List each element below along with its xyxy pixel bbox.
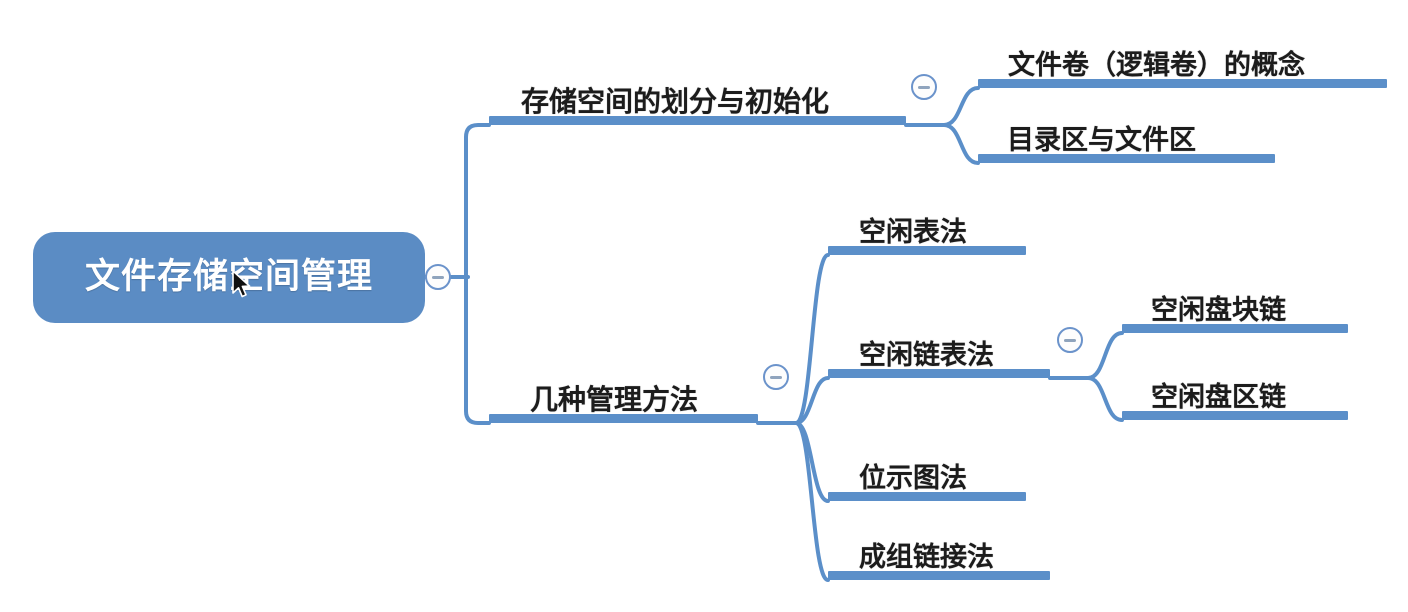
node-free-linked-list-method-bar	[828, 369, 1050, 378]
node-free-extent-chain[interactable]: 空闲盘区链	[1122, 369, 1348, 420]
node-file-volume-concept[interactable]: 文件卷（逻辑卷）的概念	[978, 37, 1387, 88]
root-collapse-toggle[interactable]	[425, 264, 451, 290]
node-management-methods-label: 几种管理方法	[530, 386, 698, 414]
node-free-block-chain-label: 空闲盘块链	[1151, 297, 1286, 324]
node-free-extent-chain-bar	[1122, 411, 1348, 420]
root-node[interactable]: 文件存储空间管理	[33, 232, 425, 323]
node-grouped-link-method-bar	[828, 571, 1050, 580]
node-management-methods-toggle[interactable]	[763, 364, 789, 390]
minus-icon	[918, 86, 930, 89]
node-free-table-method[interactable]: 空闲表法	[828, 204, 1026, 255]
node-storage-division-bar	[489, 116, 906, 125]
node-free-extent-chain-label: 空闲盘区链	[1151, 384, 1286, 411]
node-bitmap-method-bar	[828, 492, 1026, 501]
node-storage-division[interactable]: 存储空间的划分与初始化	[489, 74, 906, 125]
node-free-table-method-label: 空闲表法	[859, 219, 967, 246]
node-bitmap-method[interactable]: 位示图法	[828, 450, 1026, 501]
minus-icon	[770, 376, 782, 379]
node-bitmap-method-label: 位示图法	[859, 465, 967, 492]
mind-map-canvas: 文件存储空间管理 存储空间的划分与初始化 文件卷（逻辑卷）的概念 目录区与文件区…	[0, 0, 1408, 612]
node-free-block-chain[interactable]: 空闲盘块链	[1122, 282, 1348, 333]
node-directory-and-file-area-label: 目录区与文件区	[1007, 127, 1196, 154]
node-grouped-link-method[interactable]: 成组链接法	[828, 529, 1050, 580]
node-management-methods-bar	[489, 414, 758, 423]
node-grouped-link-method-label: 成组链接法	[859, 544, 994, 571]
node-directory-and-file-area-bar	[978, 154, 1275, 163]
node-free-table-method-bar	[828, 246, 1026, 255]
node-directory-and-file-area[interactable]: 目录区与文件区	[978, 112, 1275, 163]
minus-icon	[1064, 339, 1076, 342]
node-free-block-chain-bar	[1122, 324, 1348, 333]
node-storage-division-label: 存储空间的划分与初始化	[521, 88, 829, 116]
node-free-linked-list-method-label: 空闲链表法	[859, 342, 994, 369]
node-free-linked-list-method[interactable]: 空闲链表法	[828, 327, 1050, 378]
node-file-volume-concept-label: 文件卷（逻辑卷）的概念	[1008, 52, 1305, 79]
node-free-linked-list-method-toggle[interactable]	[1057, 327, 1083, 353]
node-management-methods[interactable]: 几种管理方法	[489, 372, 758, 423]
minus-icon	[432, 276, 444, 279]
node-storage-division-toggle[interactable]	[911, 74, 937, 100]
node-file-volume-concept-bar	[978, 79, 1387, 88]
mouse-arrow-cursor	[231, 270, 253, 300]
root-node-label: 文件存储空间管理	[85, 260, 373, 295]
